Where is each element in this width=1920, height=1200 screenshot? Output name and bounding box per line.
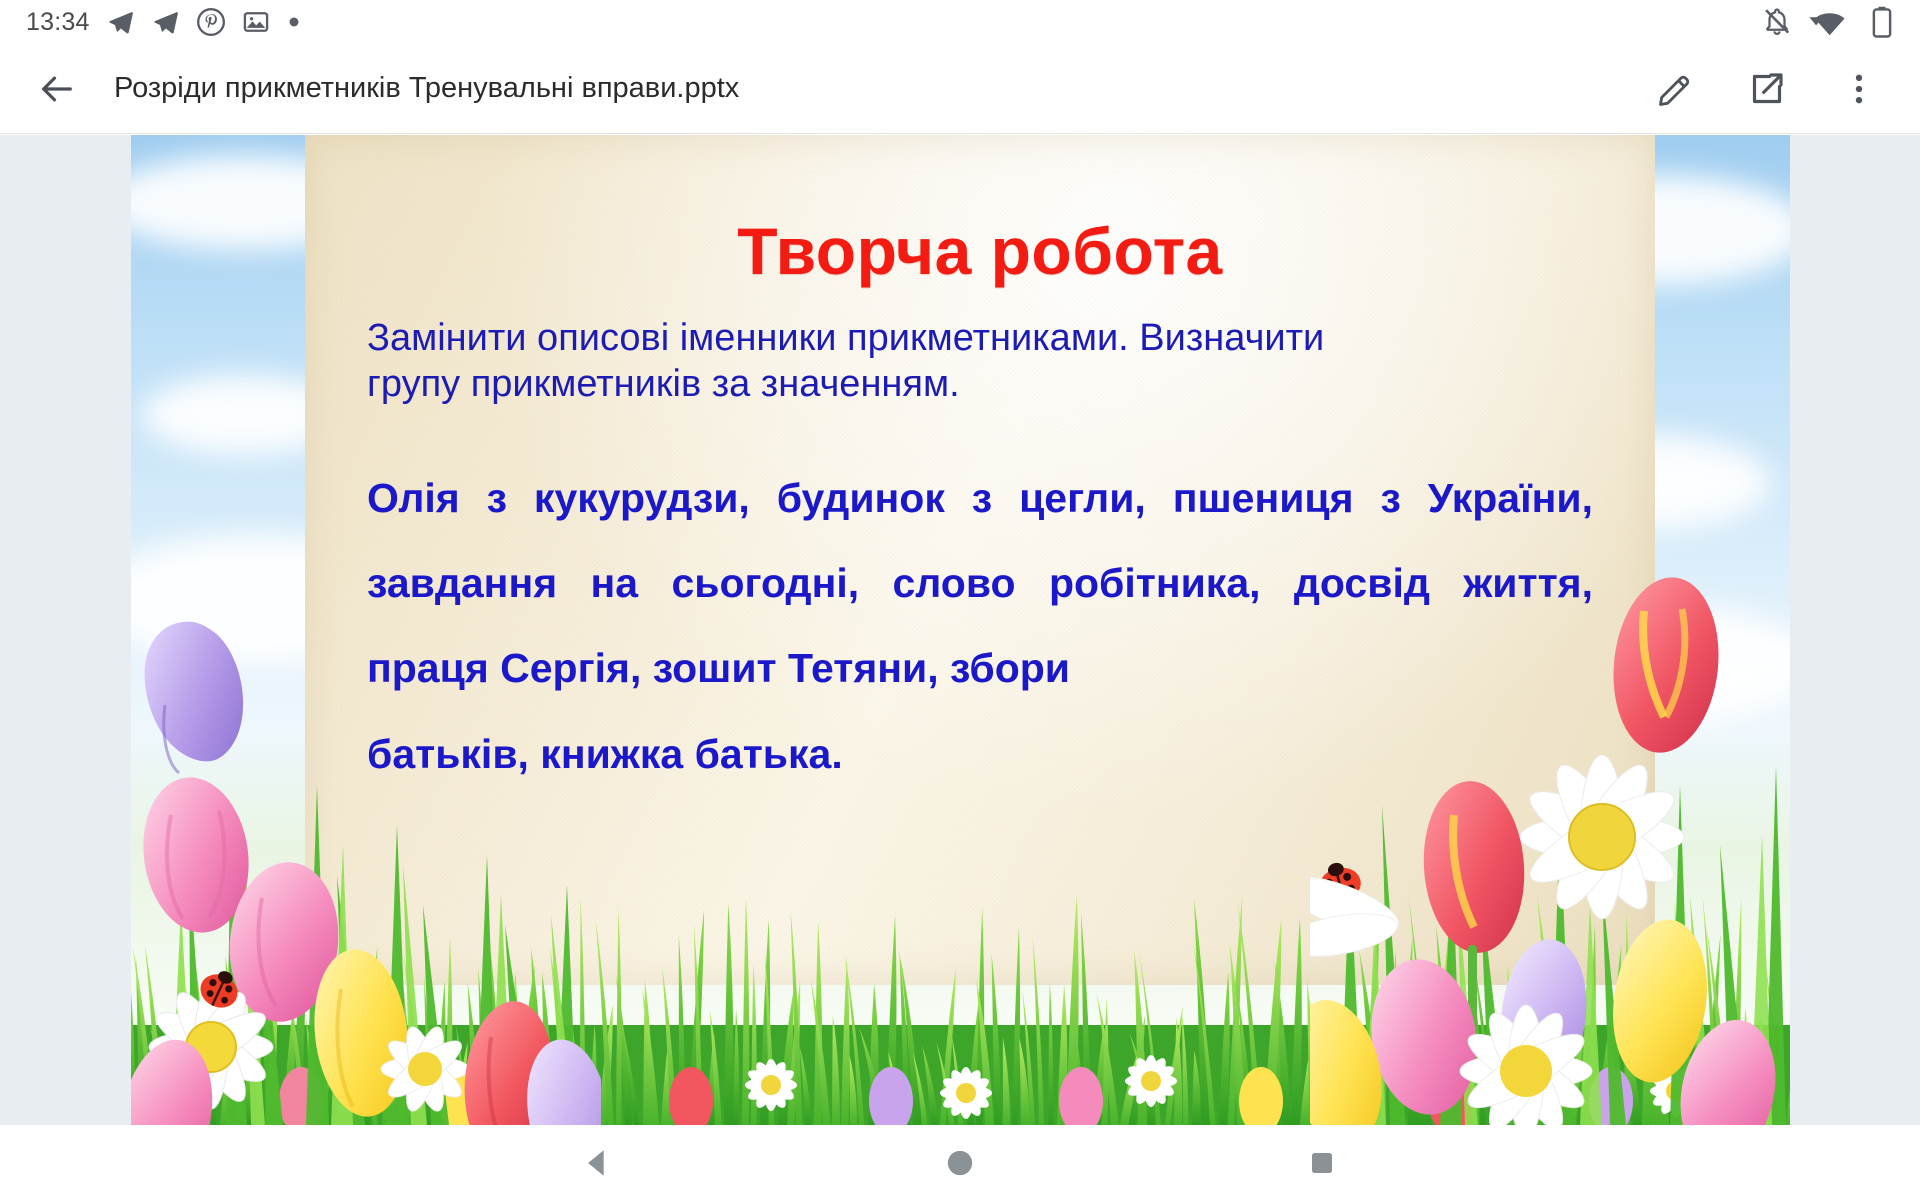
telegram-icon-2 (152, 8, 180, 36)
slide-viewer[interactable]: Творча робота Замінити описові іменники … (0, 135, 1920, 1125)
body-line-4: батьків, книжка батька. (367, 712, 1593, 797)
open-in-new-button[interactable] (1744, 66, 1790, 112)
triangle-back-icon (581, 1146, 615, 1180)
status-bar-right (1762, 6, 1894, 38)
back-button[interactable] (28, 60, 86, 118)
status-time: 13:34 (26, 8, 90, 37)
edit-button[interactable] (1652, 66, 1698, 112)
slide-canvas[interactable]: Творча робота Замінити описові іменники … (131, 135, 1790, 1125)
status-bar: 13:34 (0, 0, 1920, 44)
notifications-off-icon (1762, 7, 1792, 37)
slide-text-content: Творча робота Замінити описові іменники … (305, 135, 1655, 985)
gallery-icon (242, 8, 270, 36)
wifi-icon (1808, 7, 1854, 37)
more-vert-icon (1839, 69, 1879, 109)
instruction-line-1: Замінити описові іменники прикметниками.… (367, 317, 1324, 359)
slide-body: Олія з кукурудзи, будинок з цегли, пшени… (367, 456, 1593, 797)
pinterest-icon (197, 8, 225, 36)
overflow-menu-button[interactable] (1836, 66, 1882, 112)
battery-icon (1870, 6, 1894, 38)
square-recents-icon (1307, 1148, 1337, 1178)
pencil-icon (1655, 69, 1695, 109)
more-notifications-dot-icon (287, 15, 301, 29)
slide-heading: Творча робота (367, 213, 1593, 289)
open-in-new-icon (1747, 69, 1787, 109)
instruction-line-2: групу прикметників за значенням. (367, 361, 1593, 407)
app-bar: Розріди прикметників Тренувальні вправи.… (0, 44, 1920, 134)
nav-home-button[interactable] (929, 1132, 991, 1194)
document-title: Розріди прикметників Тренувальні вправи.… (114, 72, 739, 105)
circle-home-icon (943, 1146, 977, 1180)
telegram-icon (107, 8, 135, 36)
app-bar-actions (1652, 66, 1892, 112)
status-bar-left: 13:34 (26, 8, 301, 37)
body-line-1: Олія з кукурудзи, будинок з цегли, пшени… (367, 475, 1401, 521)
nav-recents-button[interactable] (1291, 1132, 1353, 1194)
arrow-back-icon (37, 69, 77, 109)
android-navigation-bar (0, 1125, 1920, 1200)
nav-back-button[interactable] (567, 1132, 629, 1194)
slide-instruction: Замінити описові іменники прикметниками.… (367, 315, 1593, 408)
